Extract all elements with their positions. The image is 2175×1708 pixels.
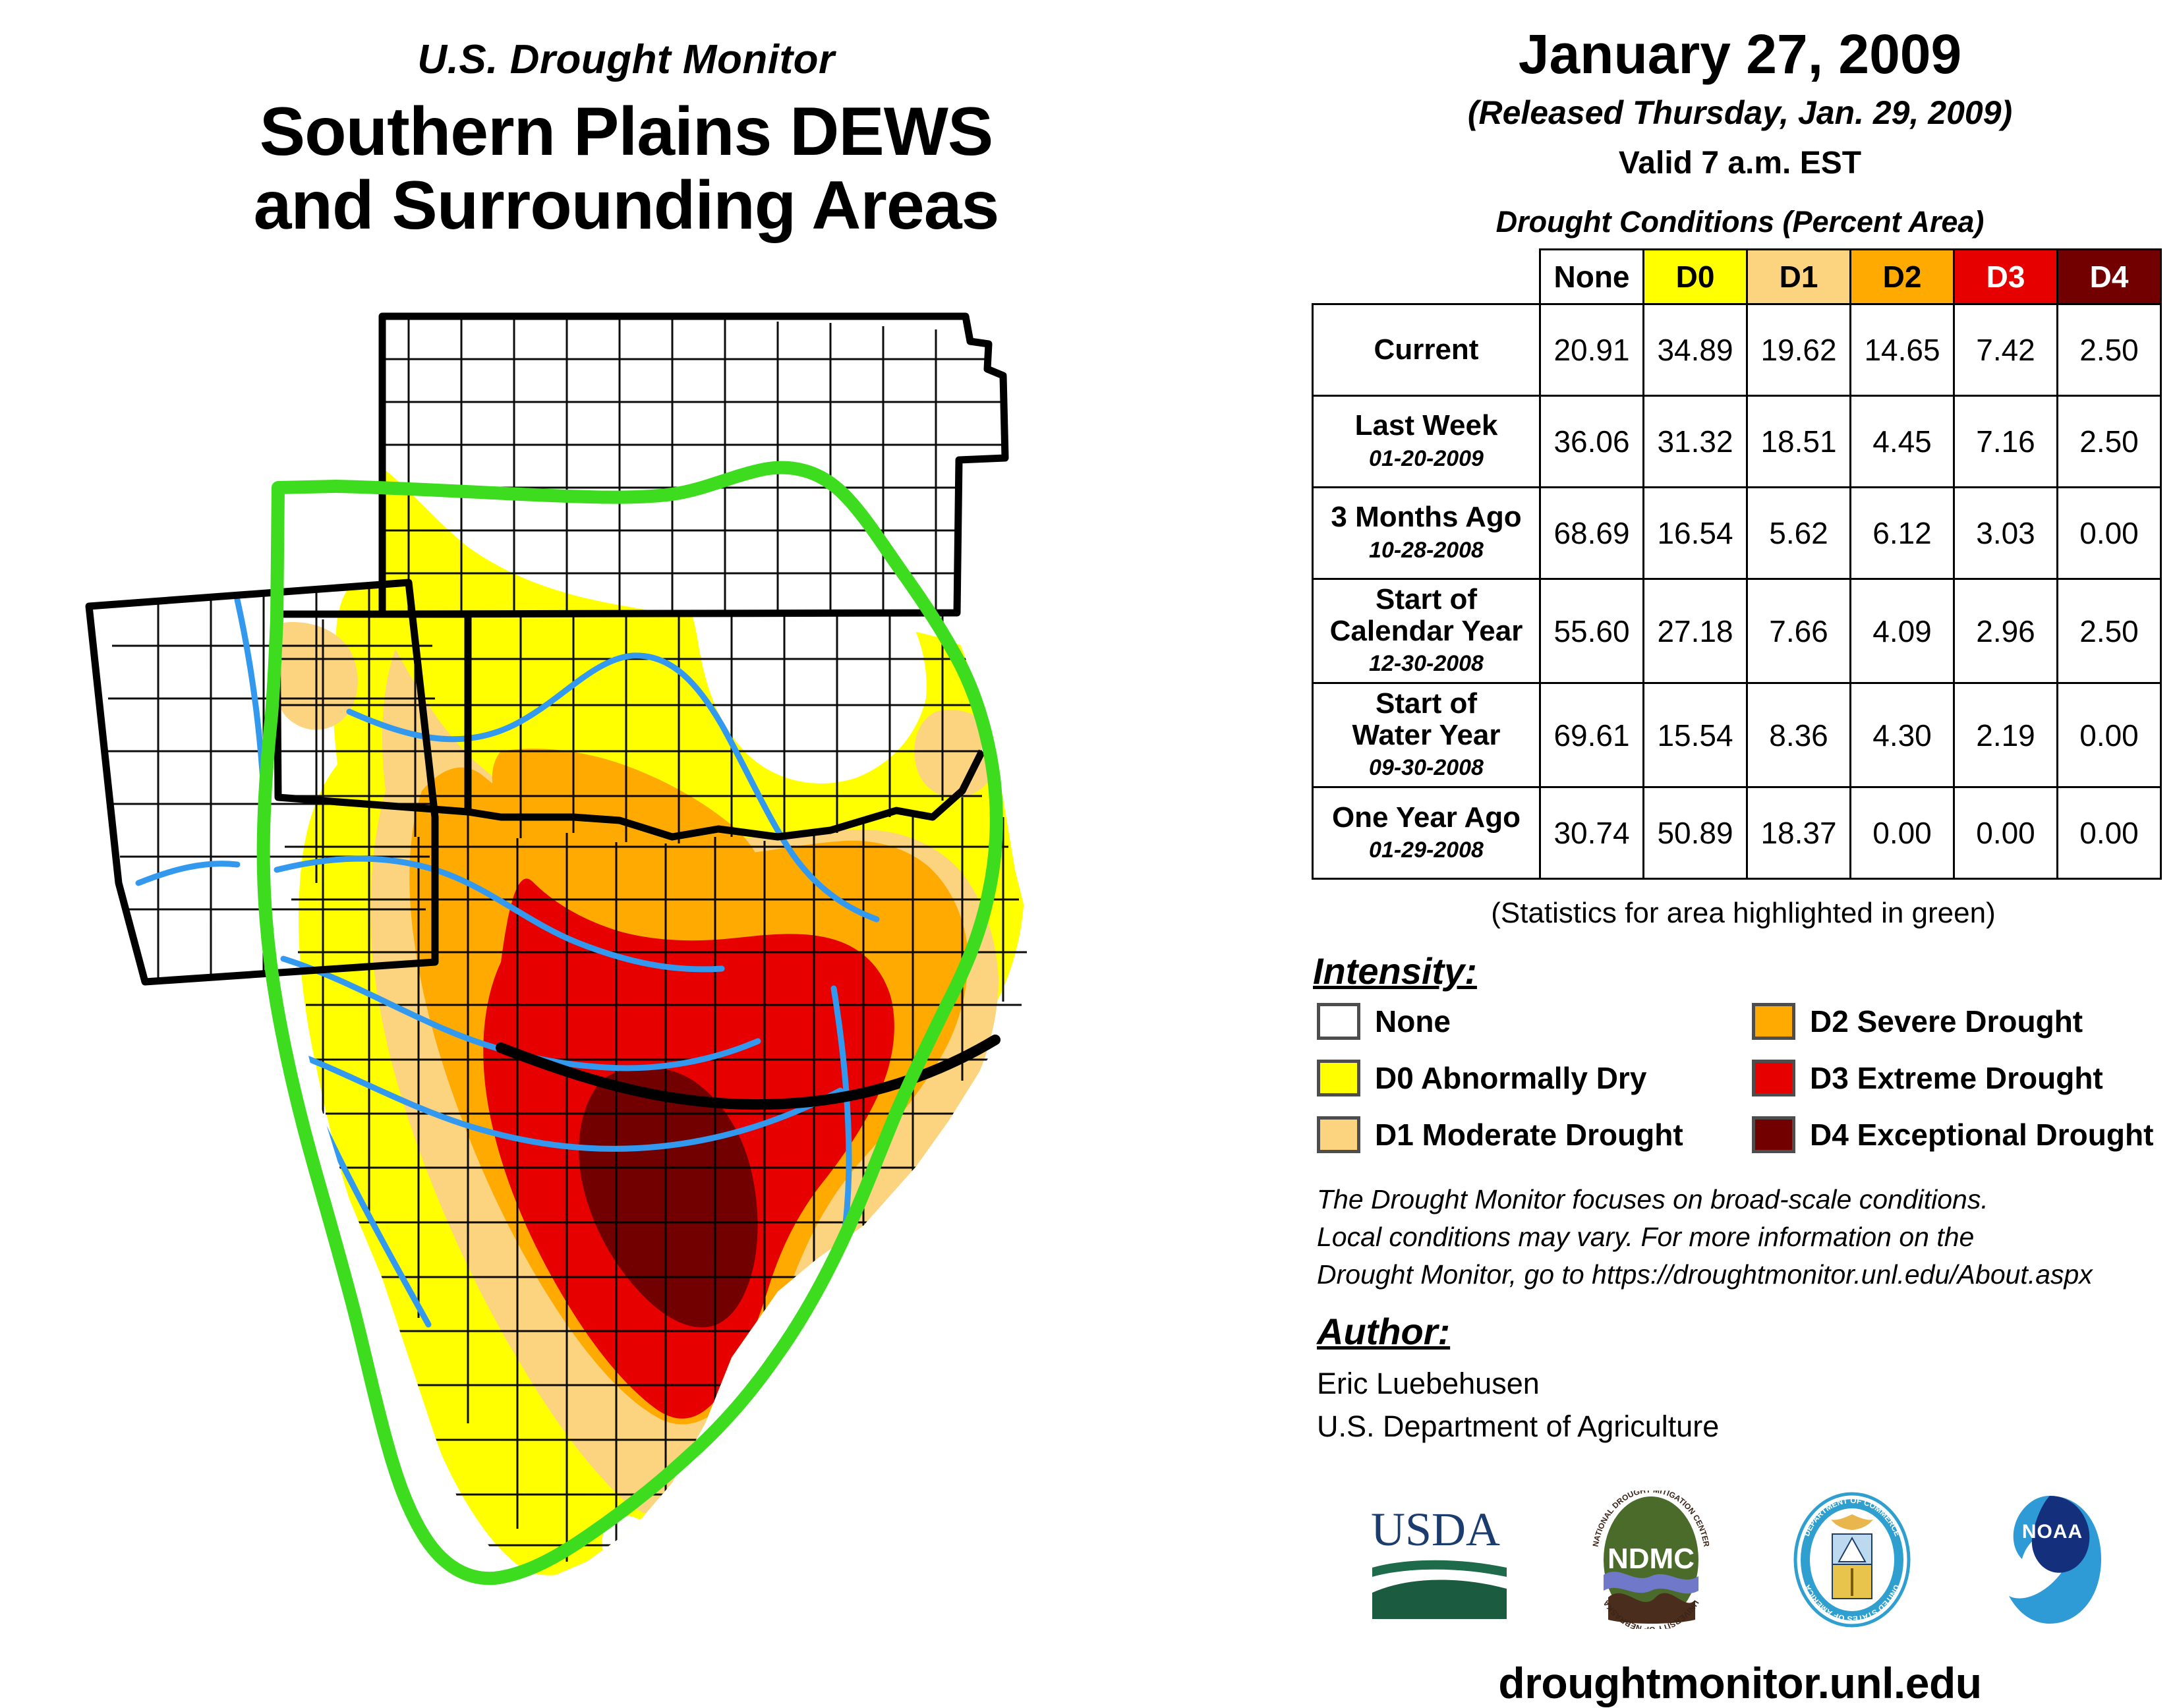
table-note: (Statistics for area highlighted in gree… [1312,897,2175,930]
release-date: (Released Thursday, Jan. 29, 2009) [1305,94,2175,132]
noaa-logo: NOAA [1984,1491,2116,1629]
table-cell-d2: 4.45 [1851,396,1954,488]
row-label: Water Year [1316,720,1536,751]
table-row: Start ofWater Year09-30-200869.6115.548.… [1313,683,2161,787]
table-cell-d3: 2.96 [1954,579,2058,683]
legend-item-d3[interactable]: D3 Extreme Drought [1752,1054,2175,1102]
svg-text:USDA: USDA [1371,1503,1500,1556]
table-cell-d1: 18.51 [1747,396,1851,488]
usda-logo: USDA [1364,1494,1516,1626]
col-header-d4: D4 [2058,250,2161,304]
valid-time: Valid 7 a.m. EST [1305,145,2175,181]
table-row: 3 Months Ago10-28-200868.6916.545.626.12… [1313,488,2161,579]
table-cell-d2: 0.00 [1851,787,1954,879]
page-title: Southern Plains DEWS and Surrounding Are… [0,95,1252,243]
title-block: U.S. Drought Monitor Southern Plains DEW… [0,40,1252,243]
row-label: Start of [1316,584,1536,615]
row-label: One Year Ago [1316,802,1536,834]
legend-label-none: None [1375,1004,1451,1039]
table-cell-none: 36.06 [1540,396,1644,488]
author-org: U.S. Department of Agriculture [1317,1405,2175,1448]
col-header-d2: D2 [1851,250,1954,304]
swatch-d2-icon [1752,1003,1795,1040]
table-cell-none: 55.60 [1540,579,1644,683]
legend-label-d1: D1 Moderate Drought [1375,1117,1683,1153]
author-name: Eric Luebehusen [1317,1362,2175,1405]
row-label: Last Week [1316,410,1536,441]
row-label-cell: 3 Months Ago10-28-2008 [1313,488,1540,579]
row-label-date: 12-30-2008 [1316,649,1536,678]
table-cell-none: 69.61 [1540,683,1644,787]
kicker-text: U.S. Drought Monitor [0,40,1252,80]
author-heading: Author: [1317,1310,2175,1353]
table-cell-d2: 6.12 [1851,488,1954,579]
row-label-cell: Last Week01-20-2009 [1313,396,1540,488]
intensity-heading: Intensity: [1313,950,2175,992]
stats-table-wrap: None D0 D1 D2 D3 D4 Current20.9134.8919.… [1305,248,2175,930]
ndmc-logo: NDMC NATIONAL DROUGHT MITIGATION CENTER … [1582,1491,1720,1629]
site-url[interactable]: droughtmonitor.unl.edu [1305,1658,2175,1708]
col-header-d0: D0 [1644,250,1747,304]
legend-label-d2: D2 Severe Drought [1810,1004,2083,1039]
row-label: 3 Months Ago [1316,501,1536,533]
row-label-date: 01-20-2009 [1316,444,1536,473]
table-cell-d1: 5.62 [1747,488,1851,579]
table-cell-d4: 2.50 [2058,304,2161,396]
swatch-d1-icon [1317,1116,1360,1153]
legend-label-d0: D0 Abnormally Dry [1375,1060,1646,1096]
row-label: Start of [1316,688,1536,720]
row-label-cell: Start ofCalendar Year12-30-2008 [1313,579,1540,683]
table-cell-d0: 15.54 [1644,683,1747,787]
table-cell-d4: 0.00 [2058,787,2161,879]
table-cell-d3: 2.19 [1954,683,2058,787]
title-line-2: and Surrounding Areas [0,169,1252,242]
table-corner-cell [1313,250,1540,304]
intensity-legend: None D2 Severe Drought D0 Abnormally Dry… [1317,998,2175,1158]
table-cell-d0: 16.54 [1644,488,1747,579]
table-cell-none: 30.74 [1540,787,1644,879]
table-cell-d1: 18.37 [1747,787,1851,879]
row-label-cell: Current [1313,304,1540,396]
commerce-logo: DEPARTMENT OF COMMERCE UNITED STATES OF … [1786,1491,1918,1629]
swatch-none-icon [1317,1003,1360,1040]
swatch-d4-icon [1752,1116,1795,1153]
legend-item-d2[interactable]: D2 Severe Drought [1752,998,2175,1045]
table-body: Current20.9134.8919.6214.657.422.50Last … [1313,304,2161,879]
table-cell-d4: 2.50 [2058,396,2161,488]
table-cell-d3: 0.00 [1954,787,2058,879]
row-label: Calendar Year [1316,615,1536,647]
legend-label-d3: D3 Extreme Drought [1810,1060,2103,1096]
table-cell-d4: 0.00 [2058,488,2161,579]
table-caption: Drought Conditions (Percent Area) [1305,205,2175,239]
col-header-d1: D1 [1747,250,1851,304]
swatch-d0-icon [1317,1060,1360,1096]
table-cell-none: 20.91 [1540,304,1644,396]
row-label-date: 01-29-2008 [1316,836,1536,865]
table-cell-d0: 27.18 [1644,579,1747,683]
report-date: January 27, 2009 [1305,26,2175,82]
table-cell-d4: 2.50 [2058,579,2161,683]
table-cell-d1: 8.36 [1747,683,1851,787]
legend-item-none[interactable]: None [1317,998,1752,1045]
col-header-none: None [1540,250,1644,304]
disclaimer-line-2: Local conditions may vary. For more info… [1317,1218,2175,1256]
table-cell-d3: 3.03 [1954,488,2058,579]
table-cell-d0: 34.89 [1644,304,1747,396]
table-cell-d0: 31.32 [1644,396,1747,488]
table-header-row: None D0 D1 D2 D3 D4 [1313,250,2161,304]
legend-item-d4[interactable]: D4 Exceptional Drought [1752,1111,2175,1158]
table-cell-d2: 4.30 [1851,683,1954,787]
disclaimer-line-1: The Drought Monitor focuses on broad-sca… [1317,1181,2175,1218]
svg-text:NOAA: NOAA [2022,1521,2083,1543]
table-cell-none: 68.69 [1540,488,1644,579]
table-cell-d1: 7.66 [1747,579,1851,683]
svg-text:NDMC: NDMC [1608,1543,1695,1575]
table-row: Last Week01-20-200936.0631.3218.514.457.… [1313,396,2161,488]
table-cell-d0: 50.89 [1644,787,1747,879]
row-label-cell: Start ofWater Year09-30-2008 [1313,683,1540,787]
swatch-d3-icon [1752,1060,1795,1096]
table-cell-d1: 19.62 [1747,304,1851,396]
drought-statistics-table: None D0 D1 D2 D3 D4 Current20.9134.8919.… [1312,248,2162,880]
col-header-d3: D3 [1954,250,2058,304]
disclaimer-line-3: Drought Monitor, go to https://droughtmo… [1317,1256,2175,1294]
table-cell-d2: 14.65 [1851,304,1954,396]
drought-map[interactable] [40,290,1305,1661]
table-cell-d3: 7.42 [1954,304,2058,396]
logo-row: USDA NDMC NATIONAL DROUGHT MITIGATION CE… [1331,1484,2149,1636]
table-row: Start ofCalendar Year12-30-200855.6027.1… [1313,579,2161,683]
disclaimer-text: The Drought Monitor focuses on broad-sca… [1317,1181,2175,1293]
title-line-1: Southern Plains DEWS [0,95,1252,169]
table-cell-d4: 0.00 [2058,683,2161,787]
table-cell-d2: 4.09 [1851,579,1954,683]
row-label-date: 10-28-2008 [1316,536,1536,565]
table-row: Current20.9134.8919.6214.657.422.50 [1313,304,2161,396]
row-label-date: 09-30-2008 [1316,753,1536,782]
table-cell-d3: 7.16 [1954,396,2058,488]
table-row: One Year Ago01-29-200830.7450.8918.370.0… [1313,787,2161,879]
map-svg[interactable] [40,290,1305,1661]
right-panel: January 27, 2009 (Released Thursday, Jan… [1305,0,2175,1680]
row-label-cell: One Year Ago01-29-2008 [1313,787,1540,879]
legend-label-d4: D4 Exceptional Drought [1810,1117,2153,1153]
legend-item-d0[interactable]: D0 Abnormally Dry [1317,1054,1752,1102]
legend-item-d1[interactable]: D1 Moderate Drought [1317,1111,1752,1158]
row-label: Current [1316,334,1536,366]
